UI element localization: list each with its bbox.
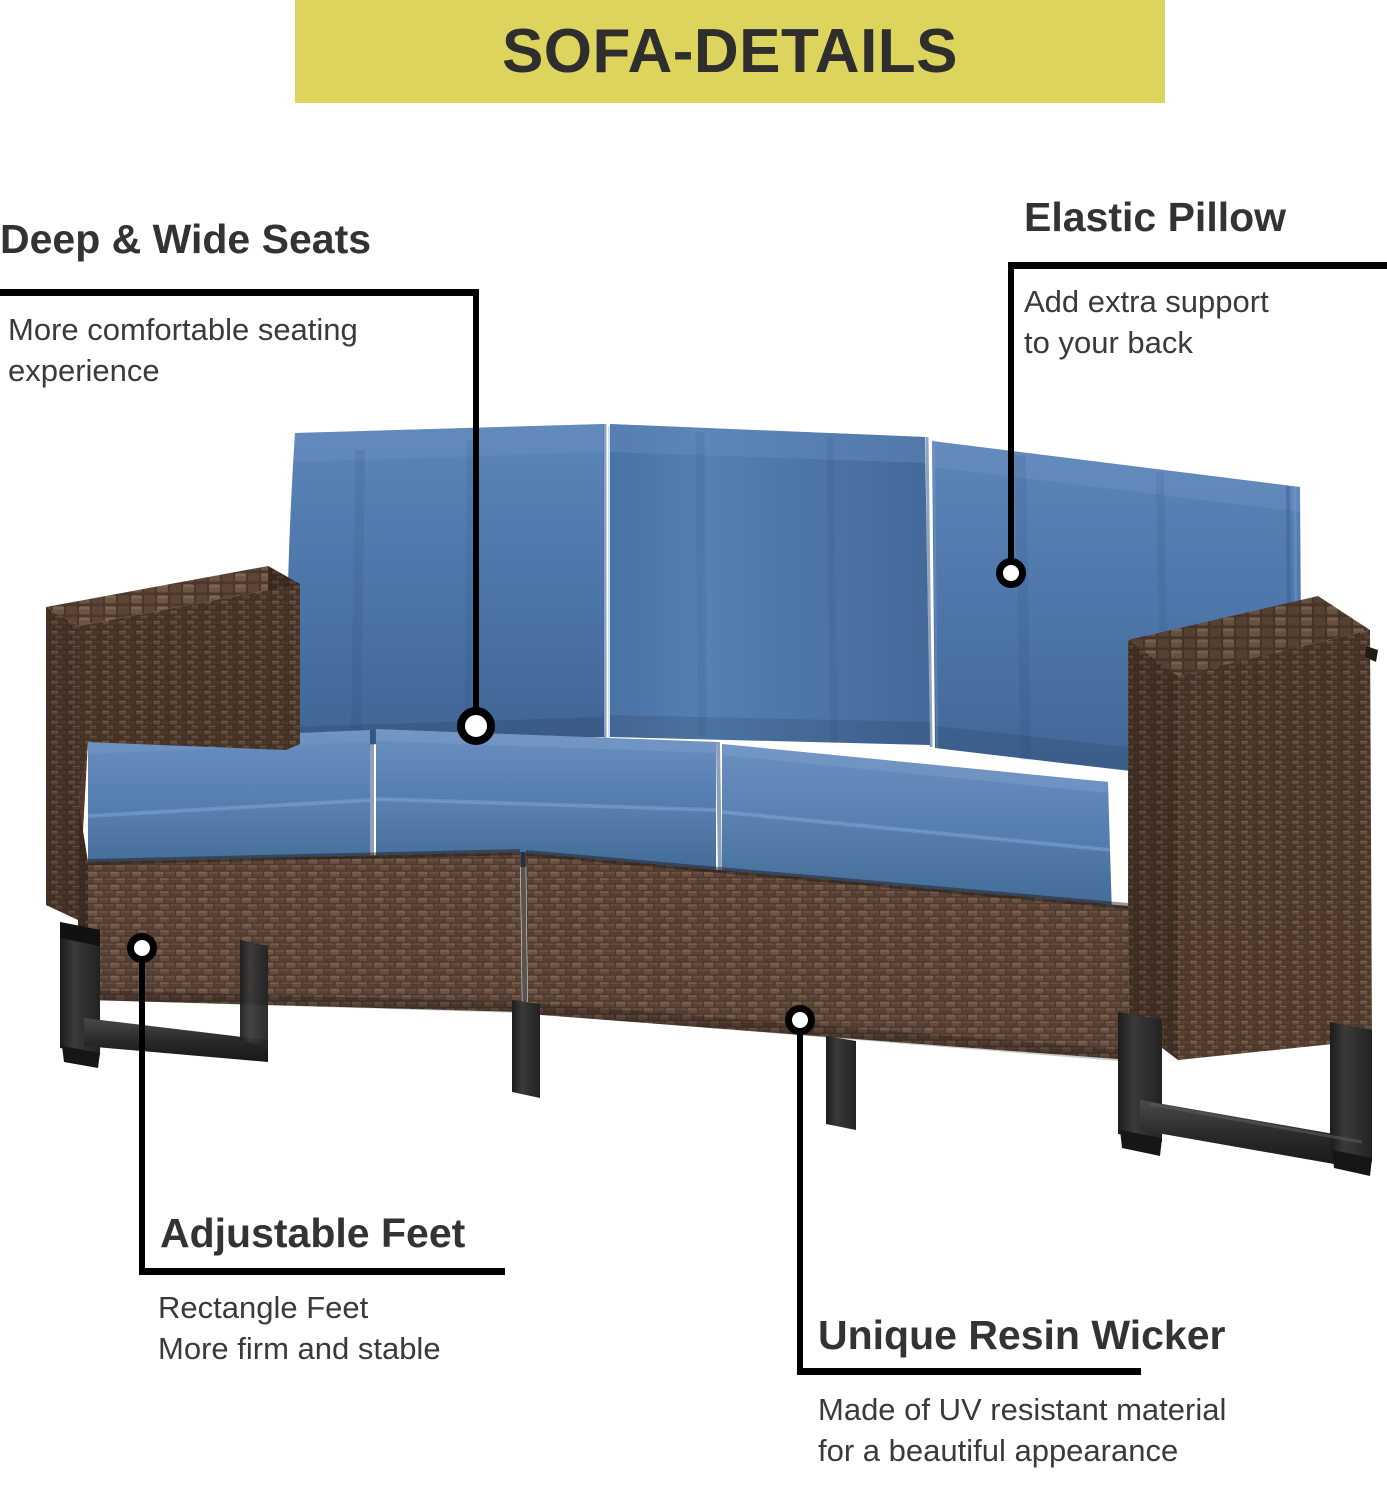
- callout-rule-adjustable-feet: [139, 1268, 505, 1275]
- callout-body-line: to your back: [1024, 323, 1384, 364]
- callout-deep-wide-seats: Deep & Wide Seats: [0, 218, 500, 261]
- callout-body-line: Add extra support: [1024, 282, 1384, 323]
- callout-body-line: More comfortable seating: [8, 310, 478, 351]
- callout-rule-elastic-pillow: [1008, 262, 1387, 269]
- callout-heading: Deep & Wide Seats: [0, 218, 500, 261]
- callout-marker-elastic-pillow: [996, 558, 1026, 588]
- callout-body-line: experience: [8, 351, 478, 392]
- callout-marker-unique-resin-wicker: [785, 1005, 815, 1035]
- callout-elastic-pillow: Elastic Pillow: [1024, 196, 1384, 239]
- callout-leader-deep-wide-seats: [473, 289, 479, 729]
- callout-body-line: More firm and stable: [158, 1329, 578, 1370]
- callout-body-unique-resin-wicker: Made of UV resistant material for a beau…: [818, 1390, 1368, 1472]
- callout-unique-resin-wicker: Unique Resin Wicker: [818, 1314, 1358, 1357]
- callout-marker-deep-wide-seats: [457, 707, 495, 745]
- callout-body-adjustable-feet: Rectangle Feet More firm and stable: [158, 1288, 578, 1370]
- callout-rule-deep-wide-seats: [0, 289, 479, 296]
- callout-adjustable-feet: Adjustable Feet: [160, 1212, 580, 1255]
- callout-body-line: for a beautiful appearance: [818, 1431, 1368, 1472]
- callout-heading: Adjustable Feet: [160, 1212, 580, 1255]
- callout-leader-unique-resin-wicker: [797, 1032, 803, 1370]
- callout-leader-elastic-pillow: [1008, 262, 1014, 582]
- callout-heading: Unique Resin Wicker: [818, 1314, 1358, 1357]
- callout-body-line: Rectangle Feet: [158, 1288, 578, 1329]
- callout-heading: Elastic Pillow: [1024, 196, 1384, 239]
- callout-body-deep-wide-seats: More comfortable seating experience: [8, 310, 478, 392]
- callout-body-elastic-pillow: Add extra support to your back: [1024, 282, 1384, 364]
- callout-marker-adjustable-feet: [127, 933, 157, 963]
- callout-body-line: Made of UV resistant material: [818, 1390, 1368, 1431]
- callout-rule-unique-resin-wicker: [797, 1368, 1141, 1375]
- callout-leader-adjustable-feet: [139, 960, 145, 1270]
